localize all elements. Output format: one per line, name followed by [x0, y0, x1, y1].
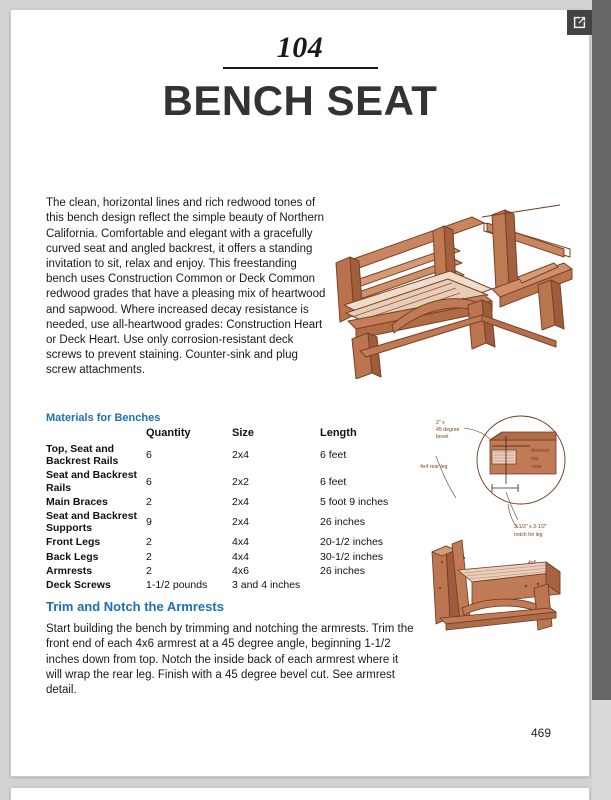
table-row: Armrests 2 4x6 26 inches — [46, 564, 414, 578]
pdf-viewer: 104 BENCH SEAT The clean, horizontal lin… — [0, 0, 611, 800]
intro-section: The clean, horizontal lines and rich red… — [11, 185, 589, 390]
row-quantity: 2 — [146, 495, 232, 509]
vertical-scrollbar-track[interactable] — [592, 0, 611, 800]
row-quantity: 9 — [146, 509, 232, 535]
row-size: 2x4 — [232, 509, 320, 535]
chapter-number: 104 — [11, 10, 589, 64]
row-length: 5 foot 9 inches — [320, 495, 414, 509]
table-row: Main Braces 2 2x4 5 foot 9 inches — [46, 495, 414, 509]
table-row: Seat and Backrest Rails 6 2x2 6 feet — [46, 468, 414, 494]
detail-label-top: top — [531, 456, 538, 462]
row-size: 3 and 4 inches — [232, 578, 320, 592]
table-row: Deck Screws 1-1/2 pounds 3 and 4 inches — [46, 578, 414, 592]
row-quantity: 1-1/2 pounds — [146, 578, 232, 592]
row-quantity: 2 — [146, 564, 232, 578]
bench-illustration — [332, 193, 575, 379]
row-length: 6 feet — [320, 468, 414, 494]
row-size: 4x4 — [232, 535, 320, 549]
table-row: Front Legs 2 4x4 20-1/2 inches — [46, 535, 414, 549]
title-divider — [223, 67, 378, 69]
row-quantity: 2 — [146, 550, 232, 564]
armrest-detail-illustration: 2" x 45 degree bevel Armrest top view 4x… — [418, 412, 583, 642]
next-document-page — [11, 788, 589, 800]
detail-label-notch-1: 3-1/2" x 3-1/2" — [514, 524, 547, 530]
detail-label-bevel-2: 45 degree — [436, 427, 459, 433]
detail-label-notch-2: notch for leg — [514, 532, 543, 538]
page-title: BENCH SEAT — [11, 79, 589, 123]
materials-column: Materials for Benches Quantity Size Leng… — [46, 412, 416, 698]
vertical-scrollbar-thumb[interactable] — [592, 0, 611, 700]
page-number: 469 — [531, 726, 551, 740]
row-item: Front Legs — [46, 535, 146, 549]
table-row: Seat and Backrest Supports 9 2x4 26 inch… — [46, 509, 414, 535]
row-length: 26 inches — [320, 564, 414, 578]
row-size: 2x2 — [232, 468, 320, 494]
trim-section-paragraph: Start building the bench by trimming and… — [46, 622, 416, 698]
row-quantity: 6 — [146, 442, 232, 468]
row-quantity: 6 — [146, 468, 232, 494]
materials-table-body: Top, Seat and Backrest Rails 6 2x4 6 fee… — [46, 442, 414, 592]
open-in-new-window-button[interactable] — [567, 10, 592, 35]
row-size: 2x4 — [232, 495, 320, 509]
row-size: 4x6 — [232, 564, 320, 578]
row-item: Seat and Backrest Rails — [46, 468, 146, 494]
column-header-item — [46, 427, 146, 442]
materials-table: Quantity Size Length Top, Seat and Backr… — [46, 427, 414, 592]
row-length: 30-1/2 inches — [320, 550, 414, 564]
document-page: 104 BENCH SEAT The clean, horizontal lin… — [11, 10, 589, 776]
detail-label-armrest: Armrest — [531, 448, 550, 454]
column-header-quantity: Quantity — [146, 427, 232, 442]
row-length: 26 inches — [320, 509, 414, 535]
row-size: 4x4 — [232, 550, 320, 564]
row-length: 20-1/2 inches — [320, 535, 414, 549]
column-header-size: Size — [232, 427, 320, 442]
row-length — [320, 578, 414, 592]
intro-paragraph: The clean, horizontal lines and rich red… — [46, 196, 326, 378]
row-size: 2x4 — [232, 442, 320, 468]
column-header-length: Length — [320, 427, 414, 442]
table-row: Top, Seat and Backrest Rails 6 2x4 6 fee… — [46, 442, 414, 468]
detail-label-bevel-1: 2" x — [436, 420, 445, 426]
row-length: 6 feet — [320, 442, 414, 468]
row-quantity: 2 — [146, 535, 232, 549]
row-item: Deck Screws — [46, 578, 146, 592]
detail-label-rear-leg: 4x4 rear leg — [420, 464, 448, 470]
materials-heading: Materials for Benches — [46, 412, 416, 424]
table-header-row: Quantity Size Length — [46, 427, 414, 442]
external-link-icon — [572, 15, 587, 30]
detail-label-bevel-3: bevel — [436, 434, 448, 440]
table-row: Back Legs 2 4x4 30-1/2 inches — [46, 550, 414, 564]
row-item: Main Braces — [46, 495, 146, 509]
trim-section-heading: Trim and Notch the Armrests — [46, 599, 416, 614]
detail-label-view: view — [531, 464, 542, 470]
row-item: Top, Seat and Backrest Rails — [46, 442, 146, 468]
row-item: Armrests — [46, 564, 146, 578]
materials-section: Materials for Benches Quantity Size Leng… — [11, 412, 589, 698]
row-item: Back Legs — [46, 550, 146, 564]
row-item: Seat and Backrest Supports — [46, 509, 146, 535]
